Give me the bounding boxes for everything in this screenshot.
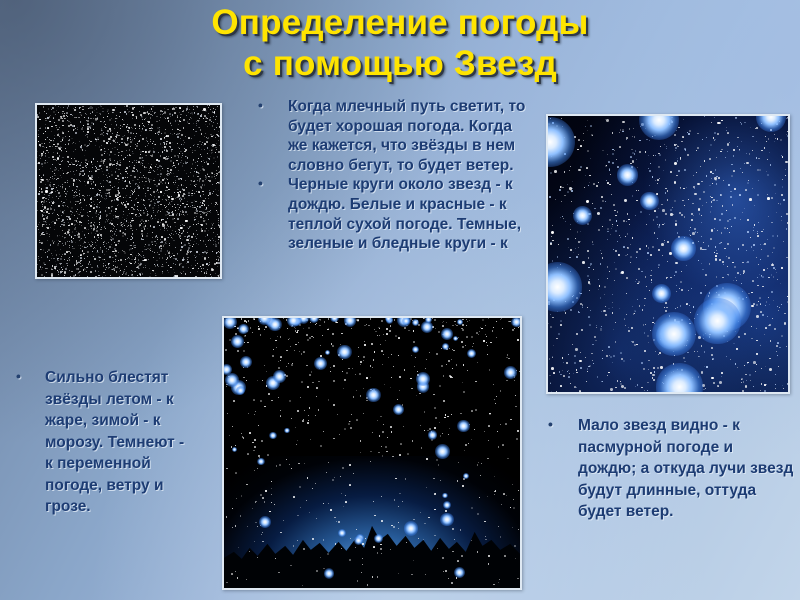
star-dot <box>763 269 765 271</box>
star-dot <box>323 431 324 432</box>
star-dot <box>426 359 427 360</box>
star-dot <box>452 528 454 530</box>
star-dot <box>330 509 332 511</box>
star-dot <box>487 345 488 346</box>
star-dot <box>39 222 40 223</box>
star-dot <box>215 178 216 179</box>
star-dot <box>356 419 358 421</box>
star-dot <box>550 326 552 328</box>
star-dot <box>728 184 730 186</box>
star-dot <box>102 130 103 131</box>
star-dot <box>200 214 201 215</box>
star-dot <box>227 413 228 414</box>
star-dot <box>205 212 206 213</box>
star-dot <box>356 529 357 530</box>
star-dot <box>78 272 79 273</box>
star-dot <box>206 264 207 265</box>
star-dot <box>598 229 600 231</box>
star-dot <box>117 194 119 196</box>
star-dot <box>488 563 489 564</box>
star-dot <box>158 183 160 185</box>
star-dot <box>710 238 712 240</box>
bright-star <box>344 316 356 327</box>
star-dot <box>114 199 115 200</box>
star-dot <box>62 137 63 138</box>
star-dot <box>99 217 101 219</box>
star-dot <box>350 538 351 539</box>
star-dot <box>147 187 149 189</box>
star-dot <box>672 207 673 208</box>
star-dot <box>577 149 579 151</box>
star-dot <box>398 355 399 356</box>
star-dot <box>612 307 613 308</box>
star-dot <box>155 236 156 237</box>
star-dot <box>139 157 141 159</box>
star-dot <box>196 216 197 217</box>
star-dot <box>579 390 581 392</box>
star-dot <box>733 149 735 151</box>
star-dot <box>166 228 167 229</box>
star-dot <box>58 198 59 199</box>
star-dot <box>200 115 202 117</box>
star-dot <box>62 243 63 244</box>
star-dot <box>159 165 161 167</box>
star-dot <box>636 251 638 253</box>
star-dot <box>145 129 146 130</box>
star-dot <box>72 212 73 213</box>
star-dot <box>160 170 161 171</box>
star-dot <box>148 244 150 246</box>
star-dot <box>485 539 486 540</box>
star-dot <box>675 262 678 265</box>
star-dot <box>148 179 150 181</box>
star-dot <box>84 227 86 229</box>
star-dot <box>116 198 117 199</box>
bright-star <box>257 458 265 466</box>
star-dot <box>571 201 572 202</box>
star-dot <box>787 296 788 297</box>
star-dot <box>710 211 711 212</box>
star-dot <box>587 368 588 369</box>
star-dot <box>181 233 182 234</box>
star-dot <box>95 276 96 277</box>
star-dot <box>721 232 722 233</box>
star-dot <box>714 139 716 141</box>
star-dot <box>216 183 217 184</box>
star-dot <box>241 318 242 319</box>
star-dot <box>193 123 194 124</box>
star-dot <box>716 183 717 184</box>
bright-star <box>463 473 469 479</box>
star-dot <box>209 180 210 181</box>
star-dot <box>748 293 749 294</box>
star-dot <box>199 206 200 207</box>
star-dot <box>548 323 549 324</box>
star-dot <box>170 123 171 124</box>
star-dot <box>220 193 221 194</box>
star-dot <box>165 214 167 216</box>
star-dot <box>386 328 388 330</box>
star-dot <box>38 130 39 131</box>
star-dot <box>265 326 267 328</box>
star-dot <box>165 207 166 208</box>
star-dot <box>173 255 174 256</box>
star-dot <box>56 187 57 188</box>
star-dot <box>164 132 166 134</box>
star-dot <box>47 240 48 241</box>
star-dot <box>192 207 193 208</box>
star-dot <box>179 235 180 236</box>
star-dot <box>47 180 48 181</box>
star-dot <box>109 267 110 268</box>
star-dot <box>647 382 648 383</box>
bright-star <box>428 430 437 439</box>
bright-star <box>416 372 430 386</box>
star-dot <box>688 133 689 134</box>
star-dot <box>658 226 660 228</box>
star-dot <box>175 167 176 168</box>
star-dot <box>178 124 179 125</box>
star-dot <box>139 182 140 183</box>
star-dot <box>157 277 159 279</box>
star-dot <box>788 161 790 163</box>
star-dot <box>582 261 585 264</box>
star-dot <box>196 123 197 124</box>
star-dot <box>730 196 732 198</box>
star-dot <box>103 160 105 162</box>
star-dot <box>394 319 395 320</box>
star-dot <box>675 271 677 273</box>
star-dot <box>58 205 60 207</box>
star-dot <box>185 161 186 162</box>
star-dot <box>134 160 136 162</box>
star-dot <box>87 131 89 133</box>
star-dot <box>54 225 55 226</box>
star-dot <box>627 254 628 255</box>
star-dot <box>781 194 783 196</box>
star-dot <box>583 133 584 134</box>
star-dot <box>126 144 128 146</box>
star-dot <box>704 160 706 162</box>
star-dot <box>604 286 606 288</box>
star-dot <box>179 214 180 215</box>
star-dot <box>574 355 575 356</box>
star-dot <box>486 336 487 337</box>
star-dot <box>410 378 411 379</box>
star-dot <box>158 219 159 220</box>
star-dot <box>676 285 677 286</box>
star-dot <box>184 206 185 207</box>
star-dot <box>258 328 259 329</box>
star-dot <box>150 141 151 142</box>
star-dot <box>235 525 236 526</box>
star-dot <box>154 252 155 253</box>
star-dot <box>147 228 148 229</box>
star-dot <box>69 232 70 233</box>
star-dot <box>45 120 47 122</box>
star-dot <box>751 326 752 327</box>
text-block-few-stars: Мало звезд видно - к пасмурной погоде и … <box>548 415 794 523</box>
star-dot <box>187 257 188 258</box>
star-dot <box>105 127 106 128</box>
star-dot <box>608 346 610 348</box>
star-dot <box>116 115 117 116</box>
star-dot <box>130 222 131 223</box>
star-dot <box>133 208 134 209</box>
star-dot <box>115 138 117 140</box>
star-dot <box>626 293 627 294</box>
star-dot <box>141 223 142 224</box>
star-dot <box>678 170 680 172</box>
star-dot <box>215 145 216 146</box>
star-dot <box>160 173 162 175</box>
star-dot <box>632 306 633 307</box>
star-dot <box>47 251 48 252</box>
star-dot <box>46 211 47 212</box>
star-dot <box>64 271 66 273</box>
star-dot <box>120 270 121 271</box>
star-dot <box>179 213 180 214</box>
star-dot <box>134 247 135 248</box>
star-dot <box>119 230 121 232</box>
star-dot <box>168 175 169 176</box>
star-dot <box>88 220 90 222</box>
star-dot <box>76 262 78 264</box>
star-dot <box>47 127 49 129</box>
star-dot <box>41 210 43 212</box>
star-dot <box>100 248 101 249</box>
bright-star <box>652 312 696 356</box>
star-dot <box>769 368 772 371</box>
star-dot <box>590 158 591 159</box>
star-dot <box>380 416 381 417</box>
star-dot <box>183 140 184 141</box>
star-dot <box>460 413 461 414</box>
star-dot <box>162 271 163 272</box>
star-dot <box>654 210 656 212</box>
star-dot <box>197 263 198 264</box>
star-dot <box>70 124 72 126</box>
star-dot <box>634 310 636 312</box>
star-dot <box>186 239 188 241</box>
star-dot <box>91 107 93 109</box>
star-dot <box>77 217 78 218</box>
star-dot <box>209 239 210 240</box>
star-dot <box>751 338 752 339</box>
star-dot <box>82 109 84 111</box>
star-dot <box>39 240 40 241</box>
star-dot <box>177 115 178 116</box>
star-dot <box>457 560 459 562</box>
slide-title: Определение погоды с помощью Звезд <box>0 2 800 84</box>
star-dot <box>57 235 58 236</box>
star-dot <box>766 301 767 302</box>
star-dot <box>689 234 690 235</box>
star-dot <box>56 266 57 267</box>
star-dot <box>722 205 723 206</box>
star-dot <box>488 555 489 556</box>
star-dot <box>762 276 764 278</box>
star-dot <box>615 322 616 323</box>
star-dot <box>512 484 513 485</box>
star-dot <box>205 176 207 178</box>
star-dot <box>187 157 188 158</box>
star-dot <box>119 164 121 166</box>
star-dot <box>218 225 219 226</box>
star-dot <box>169 173 171 175</box>
star-dot <box>113 257 114 258</box>
star-dot <box>787 135 788 136</box>
star-dot <box>113 112 114 113</box>
star-dot <box>761 368 762 369</box>
star-dot <box>168 209 169 210</box>
star-dot <box>303 548 305 550</box>
star-dot <box>650 254 652 256</box>
star-dot <box>514 380 515 381</box>
star-dot <box>45 190 47 192</box>
star-dot <box>88 176 89 177</box>
star-dot <box>500 536 501 537</box>
star-dot <box>53 212 54 213</box>
star-dot <box>267 454 269 456</box>
star-dot <box>399 390 400 391</box>
star-dot <box>727 132 729 134</box>
star-dot <box>53 118 54 119</box>
star-dot <box>180 211 181 212</box>
star-dot <box>197 234 198 235</box>
bright-star <box>442 493 448 499</box>
star-dot <box>141 162 142 163</box>
star-dot <box>598 182 599 183</box>
star-dot <box>45 252 46 253</box>
star-dot <box>101 133 103 135</box>
star-dot <box>109 246 111 248</box>
star-dot <box>751 246 753 248</box>
star-dot <box>74 197 75 198</box>
star-dot <box>247 453 249 455</box>
star-dot <box>744 163 745 164</box>
star-dot <box>114 226 115 227</box>
star-dot <box>104 198 105 199</box>
star-dot <box>124 219 125 220</box>
star-dot <box>147 145 148 146</box>
star-dot <box>141 199 142 200</box>
star-dot <box>507 458 508 459</box>
star-dot <box>620 237 621 238</box>
star-dot <box>73 183 74 184</box>
star-dot <box>119 271 120 272</box>
star-dot <box>129 166 130 167</box>
star-dot <box>332 345 334 347</box>
star-dot <box>106 169 108 171</box>
star-dot <box>773 300 774 301</box>
star-dot <box>333 438 334 439</box>
star-dot <box>51 201 52 202</box>
star-dot <box>421 447 422 448</box>
star-dot <box>131 213 132 214</box>
star-dot <box>346 372 348 374</box>
star-dot <box>295 344 296 345</box>
star-dot <box>180 108 181 109</box>
star-dot <box>132 274 133 275</box>
star-dot <box>57 130 58 131</box>
star-dot <box>760 244 761 245</box>
star-dot <box>71 223 73 225</box>
star-dot <box>162 111 163 112</box>
star-dot <box>390 426 392 428</box>
star-dot <box>158 134 159 135</box>
star-dot <box>381 320 383 322</box>
star-dot <box>434 493 436 495</box>
star-dot <box>193 109 194 110</box>
star-dot <box>194 220 195 221</box>
star-dot <box>389 330 391 332</box>
star-dot <box>49 142 50 143</box>
star-dot <box>89 211 90 212</box>
star-dot <box>623 360 625 362</box>
star-dot <box>104 241 105 242</box>
star-dot <box>360 440 362 442</box>
star-dot <box>132 259 133 260</box>
star-dot <box>123 272 124 273</box>
star-dot <box>723 180 724 181</box>
star-dot <box>75 143 76 144</box>
star-dot <box>87 120 88 121</box>
star-dot <box>183 230 184 231</box>
star-dot <box>196 210 198 212</box>
star-dot <box>218 195 219 196</box>
star-dot <box>92 188 93 189</box>
star-dot <box>69 136 70 137</box>
star-dot <box>630 359 631 360</box>
star-dot <box>564 171 565 172</box>
star-dot <box>141 219 142 220</box>
star-dot <box>152 128 153 129</box>
star-dot <box>279 464 281 466</box>
star-dot <box>503 493 505 495</box>
star-dot <box>61 161 62 162</box>
star-dot <box>71 241 73 243</box>
star-dot <box>587 150 589 152</box>
star-dot <box>103 263 104 264</box>
star-dot <box>205 133 206 134</box>
star-dot <box>126 195 127 196</box>
star-dot <box>233 400 235 402</box>
star-dot <box>81 162 82 163</box>
star-dot <box>52 107 54 109</box>
star-dot <box>625 255 627 257</box>
star-dot <box>55 146 56 147</box>
star-dot <box>580 367 582 369</box>
star-dot <box>50 208 51 209</box>
star-dot <box>154 205 155 206</box>
star-dot <box>434 535 435 536</box>
star-dot <box>99 224 100 225</box>
star-dot <box>752 136 753 137</box>
star-dot <box>67 260 68 261</box>
star-dot <box>173 165 175 167</box>
star-dot <box>125 273 126 274</box>
star-dot <box>199 127 200 128</box>
star-dot <box>95 233 96 234</box>
star-dot <box>788 338 789 339</box>
star-dot <box>520 344 522 346</box>
star-dot <box>607 228 609 230</box>
star-dot <box>125 171 126 172</box>
star-dot <box>245 335 246 336</box>
star-dot <box>155 245 156 246</box>
star-dot <box>197 146 198 147</box>
